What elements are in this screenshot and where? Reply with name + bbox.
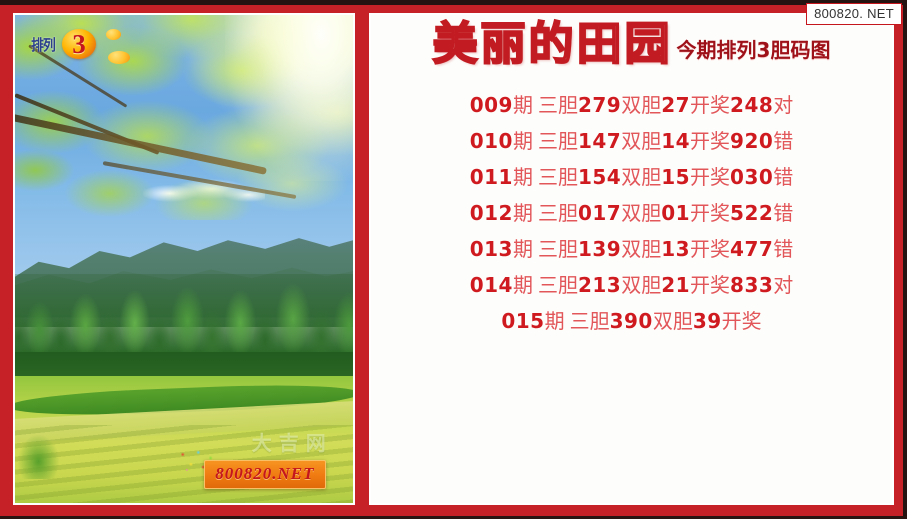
panel-title-row: 美丽的田园 今期排列3胆码图 (371, 21, 892, 68)
row-double-value: 15 (661, 159, 690, 195)
row-result-badge: 错 (773, 231, 793, 267)
row-three-label: 三胆 (538, 87, 578, 123)
table-row: 013 期 三胆 139 双胆 13 开奖 477 错 (371, 231, 892, 267)
logo-word-text: 排列 (31, 34, 55, 55)
row-three-value: 139 (578, 231, 621, 267)
logo-numeral-text: 3 (60, 27, 98, 61)
poster-canvas: 大吉网 排列 3 800820.NET 美丽的田园 今期排列3胆码图 (0, 0, 907, 519)
row-draw-value: 920 (730, 123, 773, 159)
sun-glare (225, 15, 353, 181)
site-watermark-banner: 800820.NET (204, 460, 325, 489)
row-period-label: 期 (513, 231, 538, 267)
row-draw-label: 开奖 (690, 231, 730, 267)
frame-right-edge (903, 0, 907, 519)
row-period-number: 012 (470, 195, 513, 231)
row-draw-label: 开奖 (690, 87, 730, 123)
row-draw-label: 开奖 (690, 159, 730, 195)
row-period-label: 期 (545, 303, 570, 339)
logo-bubble-large-icon (108, 51, 130, 64)
row-result-badge: 对 (773, 267, 793, 303)
page-subtitle: 今期排列3胆码图 (677, 34, 831, 68)
row-three-value: 147 (578, 123, 621, 159)
prediction-rows: 009 期 三胆 279 双胆 27 开奖 248 对 010 期 三胆 147… (371, 87, 892, 339)
row-period-number: 015 (501, 303, 544, 339)
row-three-label: 三胆 (538, 267, 578, 303)
row-three-label: 三胆 (538, 123, 578, 159)
row-double-label: 双胆 (621, 267, 661, 303)
row-draw-value: 833 (730, 267, 773, 303)
row-result-badge: 错 (773, 123, 793, 159)
row-period-label: 期 (513, 195, 538, 231)
table-row: 014 期 三胆 213 双胆 21 开奖 833 对 (371, 267, 892, 303)
row-double-value: 39 (693, 303, 722, 339)
site-badge: 800820. NET (806, 3, 902, 25)
row-double-label: 双胆 (621, 195, 661, 231)
row-draw-value: 030 (730, 159, 773, 195)
row-period-number: 011 (470, 159, 513, 195)
table-row: 012 期 三胆 017 双胆 01 开奖 522 错 (371, 195, 892, 231)
row-double-label: 双胆 (621, 123, 661, 159)
row-draw-label: 开奖 (690, 195, 730, 231)
row-three-value: 213 (578, 267, 621, 303)
row-period-label: 期 (513, 87, 538, 123)
row-double-label: 双胆 (621, 231, 661, 267)
row-draw-value: 522 (730, 195, 773, 231)
row-double-value: 21 (661, 267, 690, 303)
row-period-label: 期 (513, 159, 538, 195)
row-period-number: 013 (470, 231, 513, 267)
row-three-value: 017 (578, 195, 621, 231)
prediction-panel: 美丽的田园 今期排列3胆码图 009 期 三胆 279 双胆 27 开奖 248… (369, 13, 894, 505)
table-row: 010 期 三胆 147 双胆 14 开奖 920 错 (371, 123, 892, 159)
pailie3-logo: 排列 3 (29, 27, 100, 61)
table-row: 011 期 三胆 154 双胆 15 开奖 030 错 (371, 159, 892, 195)
row-double-label: 双胆 (621, 159, 661, 195)
row-period-number: 010 (470, 123, 513, 159)
scenery-photo: 大吉网 (15, 15, 353, 503)
scenery-photo-panel: 大吉网 排列 3 800820.NET (13, 13, 355, 505)
row-draw-label: 开奖 (690, 267, 730, 303)
row-period-label: 期 (513, 267, 538, 303)
row-period-number: 014 (470, 267, 513, 303)
photo-watermark-text: 大吉网 (252, 427, 333, 456)
logo-bubble-small-icon (106, 29, 121, 40)
table-row: 009 期 三胆 279 双胆 27 开奖 248 对 (371, 87, 892, 123)
page-title: 美丽的田园 (433, 21, 673, 68)
row-draw-label: 开奖 (722, 303, 762, 339)
row-double-label: 双胆 (621, 87, 661, 123)
row-three-value: 154 (578, 159, 621, 195)
row-period-number: 009 (470, 87, 513, 123)
row-double-value: 13 (661, 231, 690, 267)
row-draw-value: 477 (730, 231, 773, 267)
row-three-label: 三胆 (538, 231, 578, 267)
row-three-label: 三胆 (538, 159, 578, 195)
row-draw-label: 开奖 (690, 123, 730, 159)
logo-ball-icon: 3 (60, 27, 100, 61)
frame-top-edge (0, 0, 907, 5)
table-row: 015 期 三胆 390 双胆 39 开奖 (371, 303, 892, 339)
meadow-bush (18, 435, 59, 479)
row-draw-value: 248 (730, 87, 773, 123)
row-double-value: 14 (661, 123, 690, 159)
row-double-label: 双胆 (653, 303, 693, 339)
row-three-label: 三胆 (538, 195, 578, 231)
row-double-value: 27 (661, 87, 690, 123)
row-three-value: 279 (578, 87, 621, 123)
row-three-value: 390 (610, 303, 653, 339)
row-period-label: 期 (513, 123, 538, 159)
row-three-label: 三胆 (570, 303, 610, 339)
site-watermark-text: 800820.NET (215, 464, 314, 483)
row-result-badge: 对 (773, 87, 793, 123)
row-result-badge: 错 (773, 195, 793, 231)
row-result-badge: 错 (773, 159, 793, 195)
row-double-value: 01 (661, 195, 690, 231)
